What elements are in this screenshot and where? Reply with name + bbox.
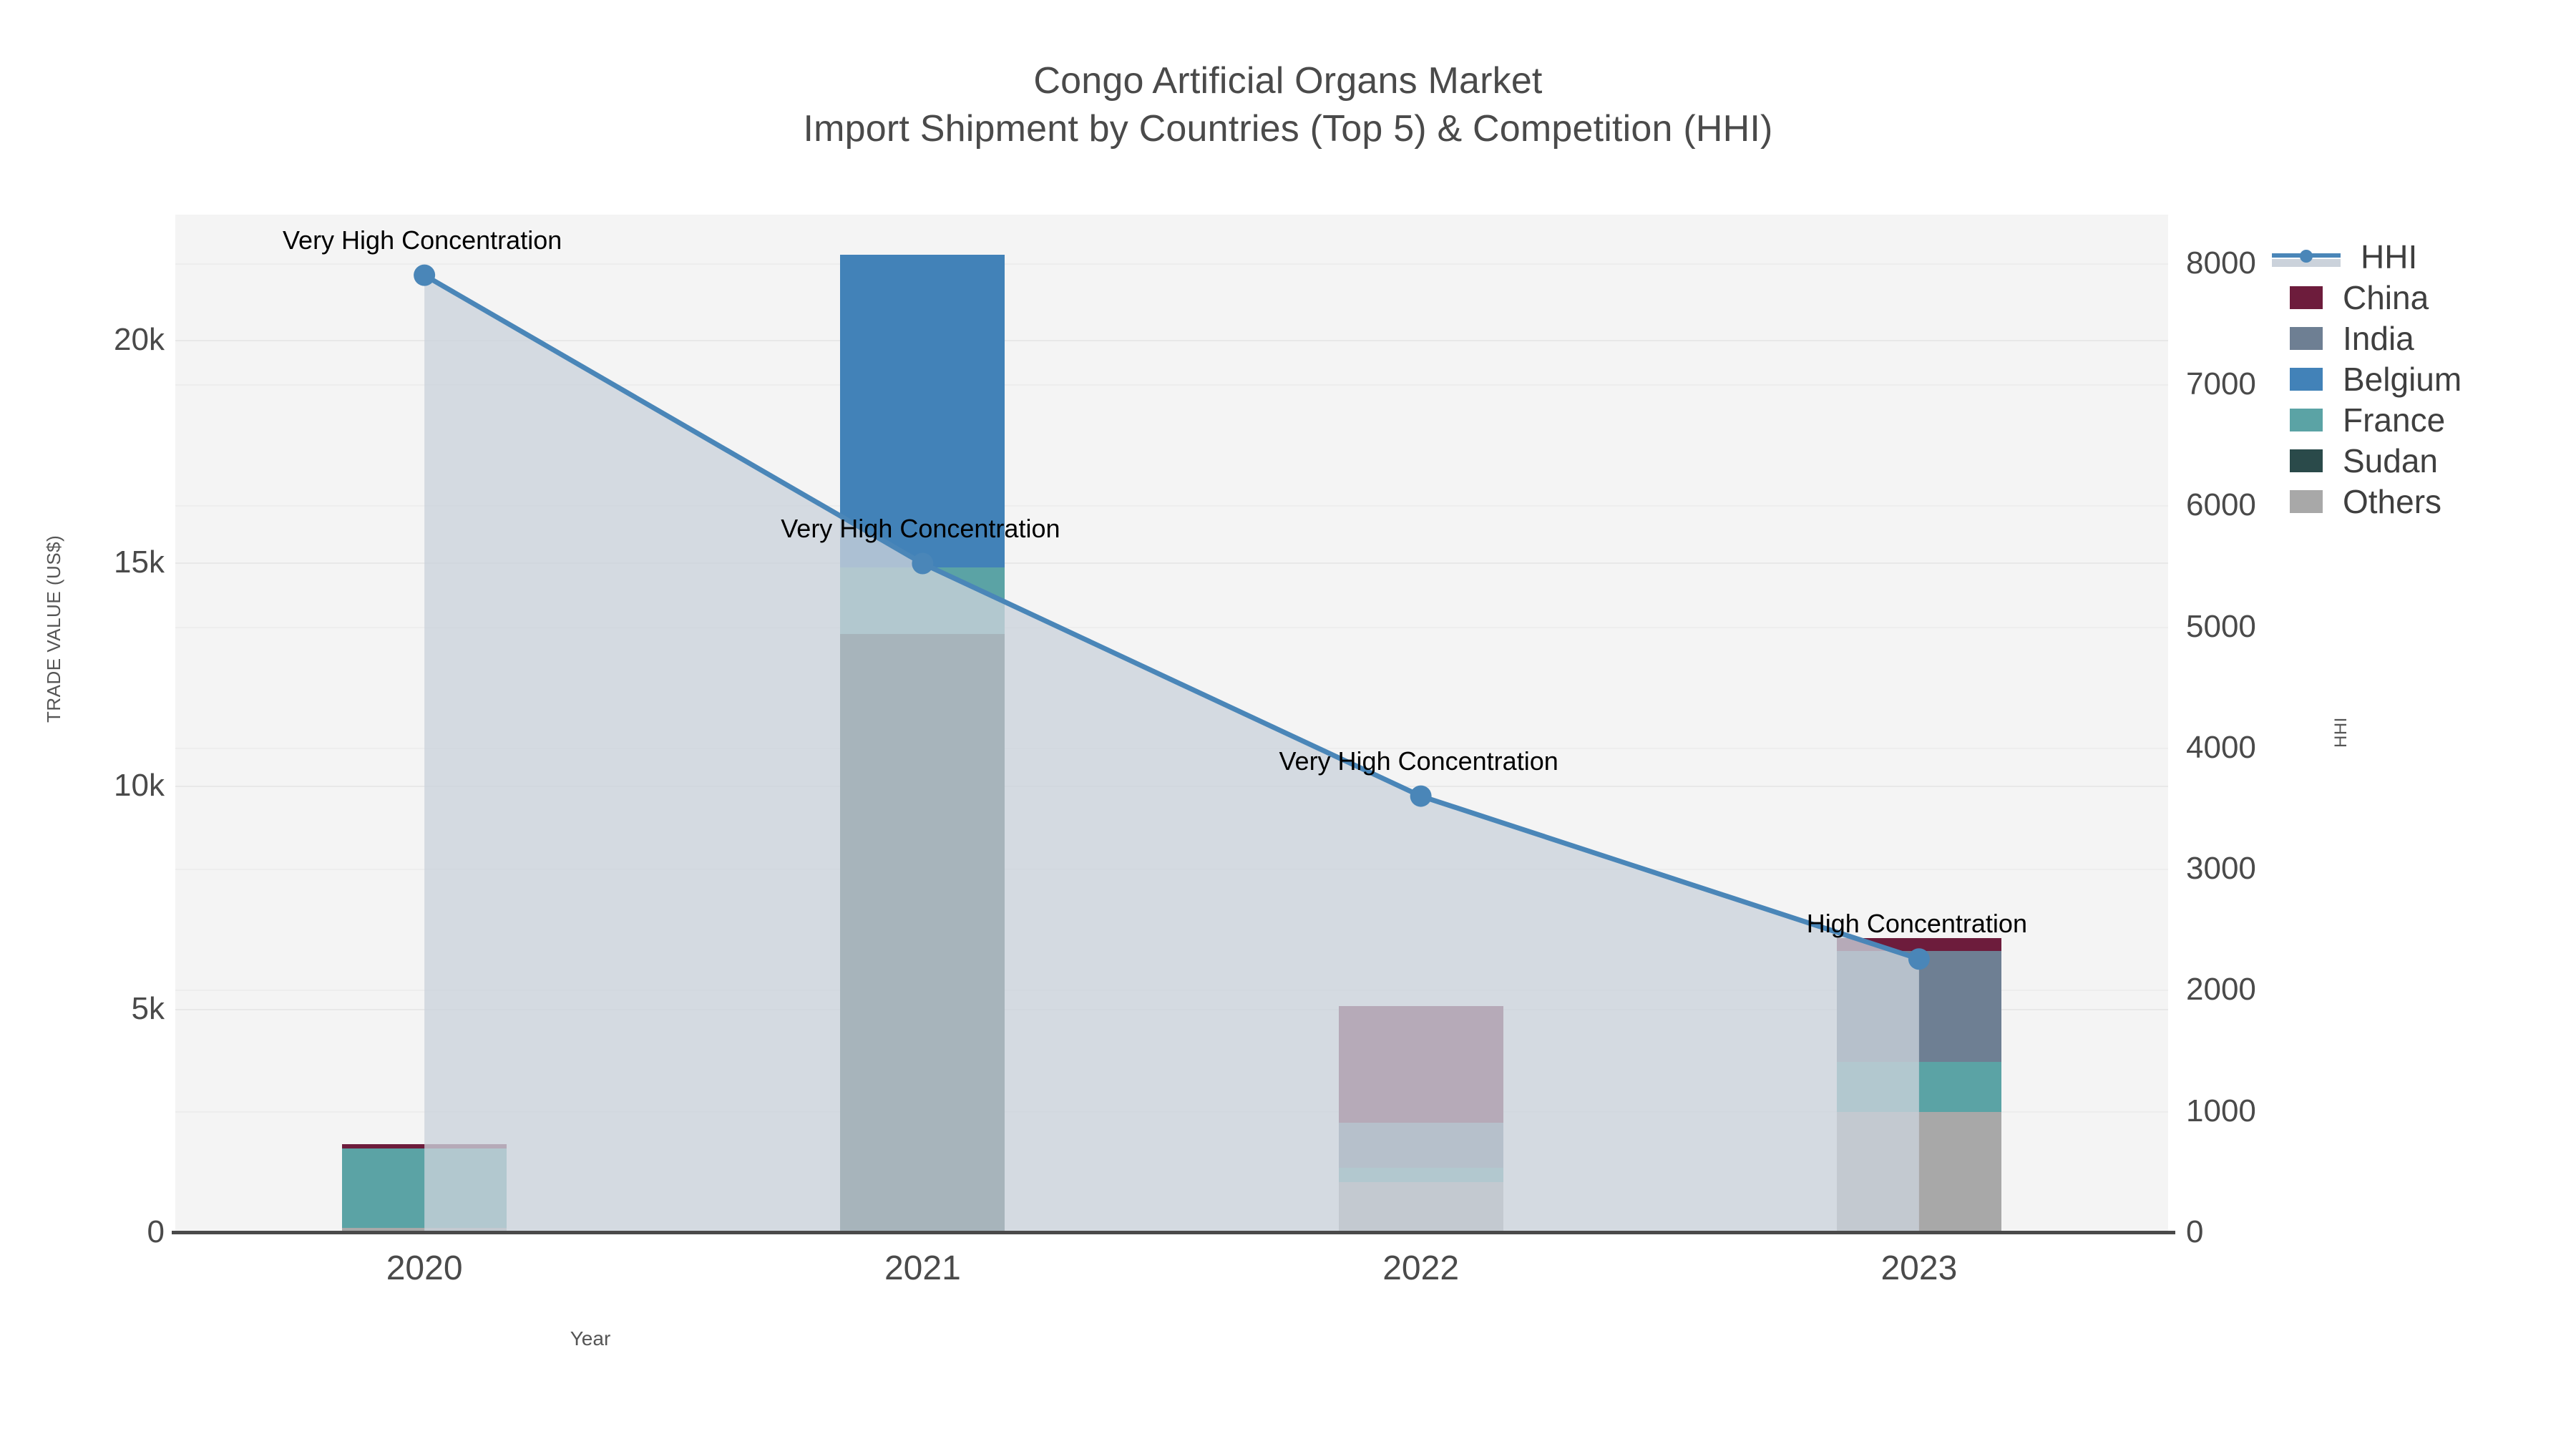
page-title: Congo Artificial Organs Market (0, 57, 2576, 105)
bar-segment[interactable] (1837, 938, 2001, 951)
legend-color-swatch (2290, 368, 2323, 391)
y-axis-left-label: TRADE VALUE (US$) (43, 535, 65, 723)
bar-segment[interactable] (840, 567, 1005, 635)
y-axis-right-tick: 1000 (2186, 1093, 2256, 1129)
x-axis-tick: 2020 (386, 1249, 463, 1288)
bar-segment[interactable] (1339, 1168, 1503, 1183)
concentration-annotation: Very High Concentration (781, 514, 1060, 544)
bar-segment[interactable] (1837, 951, 2001, 1062)
bar-segment[interactable] (1837, 1062, 2001, 1112)
x-axis-label-text: Year (570, 1327, 611, 1350)
y-axis-right-tick: 2000 (2186, 972, 2256, 1008)
y-axis-right-tick: 0 (2186, 1214, 2203, 1250)
bar-segment[interactable] (342, 1144, 507, 1148)
legend: HHIChinaIndiaBelgiumFranceSudanOthers (2290, 236, 2462, 522)
legend-item-label: Sudan (2343, 441, 2438, 480)
legend-item[interactable]: Others (2290, 481, 2462, 522)
legend-item-label: India (2343, 319, 2414, 358)
bar-segment[interactable] (840, 634, 1005, 1232)
legend-color-swatch (2290, 286, 2323, 309)
y-axis-right-tick: 6000 (2186, 487, 2256, 523)
legend-item-label: Belgium (2343, 360, 2462, 399)
plot-area (175, 215, 2168, 1232)
bars-layer (175, 215, 2168, 1232)
legend-item-label: France (2343, 401, 2445, 439)
y-axis-right-tick: 3000 (2186, 851, 2256, 887)
chart-subtitle: Import Shipment by Countries (Top 5) & C… (0, 105, 2576, 153)
x-axis-line (172, 1231, 2175, 1234)
bar-segment[interactable] (1339, 1182, 1503, 1232)
chart-canvas: Congo Artificial Organs Market Import Sh… (0, 0, 2576, 1449)
y-axis-left-tick: 20k (114, 322, 165, 358)
y-axis-right-tick: 7000 (2186, 366, 2256, 402)
legend-item-label: China (2343, 278, 2429, 317)
legend-item-label: Others (2343, 482, 2441, 521)
y-axis-left-tick: 10k (114, 768, 165, 804)
y-axis-left-tick: 15k (114, 545, 165, 580)
legend-color-swatch (2290, 327, 2323, 350)
bar-segment[interactable] (1339, 1006, 1503, 1123)
y-axis-right-tick: 5000 (2186, 609, 2256, 645)
legend-item-label: HHI (2361, 238, 2417, 276)
legend-item[interactable]: Belgium (2290, 358, 2462, 399)
y-axis-right-label: HHI (2331, 717, 2351, 748)
legend-line-icon (2272, 245, 2341, 268)
concentration-annotation: Very High Concentration (1279, 746, 1558, 776)
bar-segment[interactable] (1837, 1112, 2001, 1232)
y-axis-right-tick: 4000 (2186, 730, 2256, 766)
legend-item[interactable]: Sudan (2290, 440, 2462, 481)
bar-segment[interactable] (342, 1148, 507, 1229)
y-axis-left-tick: 5k (132, 991, 165, 1027)
y-axis-right-tick: 8000 (2186, 245, 2256, 281)
x-axis-label: Year (0, 1327, 2576, 1350)
legend-color-swatch (2290, 490, 2323, 513)
bar-segment[interactable] (1339, 1123, 1503, 1167)
concentration-annotation: High Concentration (1807, 909, 2027, 939)
chart-title-block: Congo Artificial Organs Market Import Sh… (0, 57, 2576, 152)
legend-item[interactable]: India (2290, 318, 2462, 358)
legend-item[interactable]: France (2290, 399, 2462, 440)
legend-color-swatch (2290, 409, 2323, 431)
concentration-annotation: Very High Concentration (283, 225, 562, 255)
legend-line-marker (2300, 250, 2313, 263)
y-axis-left-tick: 0 (147, 1214, 165, 1250)
x-axis-tick: 2021 (884, 1249, 961, 1288)
x-axis-tick: 2023 (1880, 1249, 1957, 1288)
legend-color-swatch (2290, 449, 2323, 472)
legend-item[interactable]: China (2290, 277, 2462, 318)
x-axis-tick: 2022 (1382, 1249, 1459, 1288)
legend-item[interactable]: HHI (2290, 236, 2462, 277)
